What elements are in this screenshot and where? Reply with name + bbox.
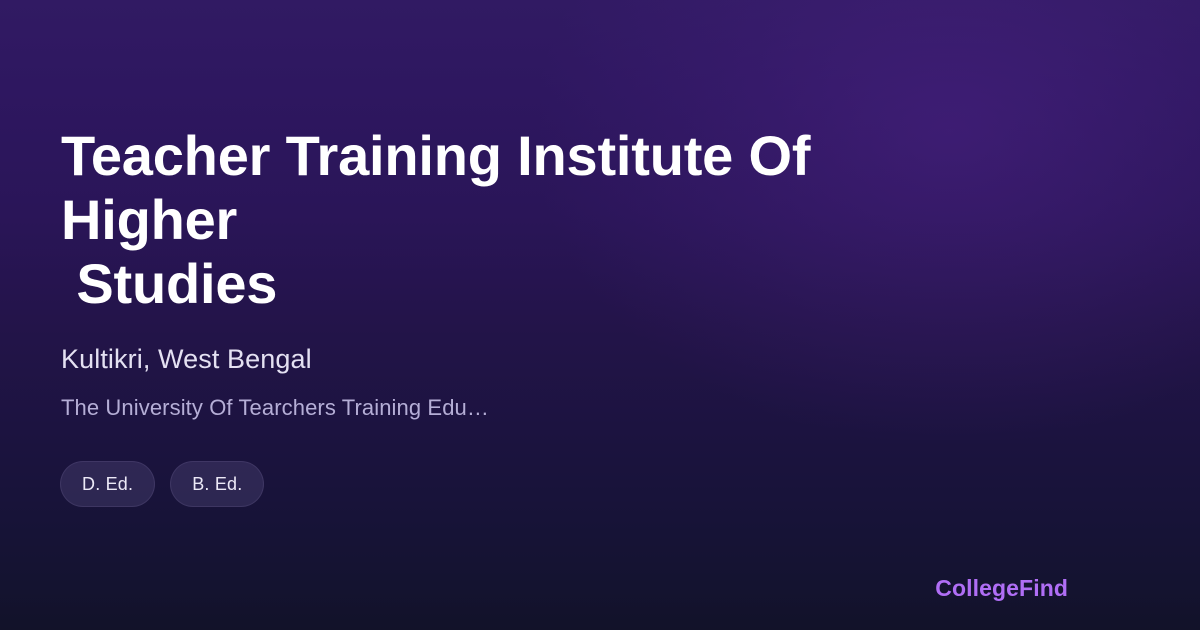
og-preview-card: Teacher Training Institute Of Higher Stu…	[0, 0, 1200, 630]
brand-logo[interactable]: CollegeFind	[935, 575, 1068, 602]
institute-description: The University Of Tearchers Training Edu…	[61, 394, 1140, 422]
course-tag-list: D. Ed. B. Ed.	[60, 461, 264, 507]
institute-location: Kultikri, West Bengal	[61, 342, 1140, 376]
card-content: Teacher Training Institute Of Higher Stu…	[61, 124, 1140, 422]
course-tag-d-ed[interactable]: D. Ed.	[60, 461, 155, 507]
course-tag-b-ed[interactable]: B. Ed.	[170, 461, 264, 507]
page-title: Teacher Training Institute Of Higher Stu…	[61, 124, 991, 316]
